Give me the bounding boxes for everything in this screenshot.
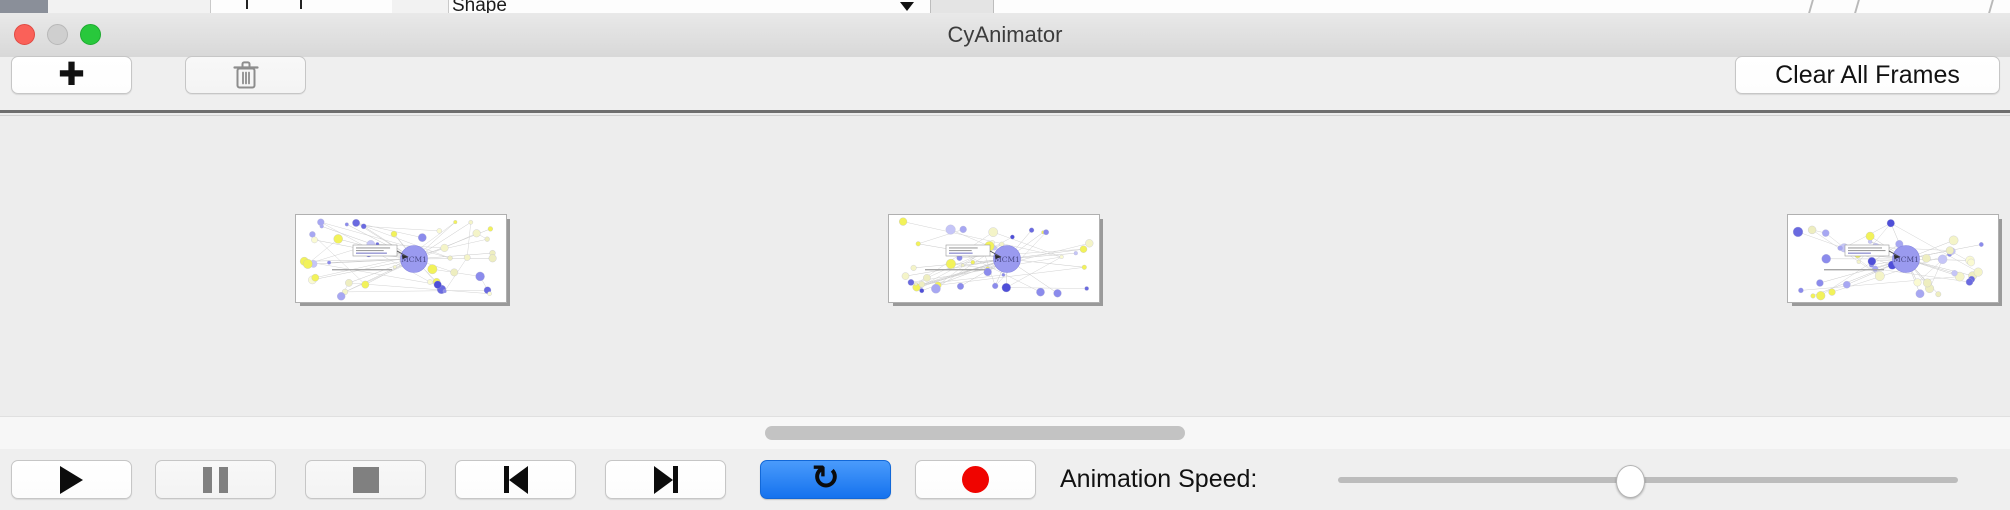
animation-speed-label: Animation Speed: bbox=[1060, 460, 1257, 499]
pause-button[interactable] bbox=[155, 460, 276, 499]
delete-frame-button[interactable] bbox=[185, 56, 306, 94]
bg-tick bbox=[246, 0, 248, 9]
toolbar-divider bbox=[0, 110, 2010, 113]
record-button[interactable] bbox=[915, 460, 1036, 499]
bg-highlight bbox=[930, 0, 994, 13]
clear-all-frames-button[interactable]: Clear All Frames bbox=[1735, 56, 2000, 94]
stop-button[interactable] bbox=[305, 460, 426, 499]
bg-window-partial-label: Shape bbox=[452, 0, 507, 13]
loop-button[interactable]: ↻ bbox=[760, 460, 891, 499]
playback-controls: ↻ Animation Speed: bbox=[0, 449, 2010, 510]
skip-to-start-button[interactable] bbox=[455, 460, 576, 499]
play-icon bbox=[60, 466, 83, 494]
add-frame-button[interactable]: ✚ bbox=[11, 56, 132, 94]
frame-image: MCM1 bbox=[295, 214, 507, 303]
animation-speed-slider-track[interactable] bbox=[1338, 477, 1958, 483]
background-window-strip: Shape bbox=[0, 0, 2010, 13]
frame-image: MCM1 bbox=[888, 214, 1100, 303]
trash-icon bbox=[233, 60, 259, 90]
record-icon bbox=[962, 466, 989, 493]
pause-icon bbox=[203, 467, 228, 493]
skip-forward-icon bbox=[654, 466, 678, 494]
cyanimator-window: Shape CyAnimator ✚ Clear All Frames MC bbox=[0, 0, 2010, 510]
timeline-scrollbar-track[interactable] bbox=[0, 416, 2010, 450]
plus-icon: ✚ bbox=[58, 58, 85, 90]
stop-icon bbox=[353, 467, 379, 493]
clear-all-frames-label: Clear All Frames bbox=[1775, 61, 1960, 90]
timeline-frame-thumbnail[interactable]: MCM1 bbox=[1787, 214, 2002, 306]
bg-segment bbox=[170, 0, 211, 13]
bg-tick bbox=[300, 0, 302, 9]
timeline-frame-thumbnail[interactable]: MCM1 bbox=[295, 214, 510, 306]
loop-icon: ↻ bbox=[811, 461, 840, 495]
timeline-panel[interactable]: MCM1MCM1MCM1 12131415161718 Seconds bbox=[0, 116, 2010, 416]
window-title: CyAnimator bbox=[0, 13, 2010, 57]
animation-speed-slider-thumb[interactable] bbox=[1616, 465, 1645, 498]
timeline-scrollbar-thumb[interactable] bbox=[765, 426, 1185, 440]
frame-image: MCM1 bbox=[1787, 214, 1999, 303]
skip-to-end-button[interactable] bbox=[605, 460, 726, 499]
bg-segment bbox=[48, 0, 171, 13]
bg-angle bbox=[1988, 0, 2010, 13]
bg-segment-dark bbox=[0, 0, 49, 13]
timeline-frame-thumbnail[interactable]: MCM1 bbox=[888, 214, 1103, 306]
bg-angle bbox=[1854, 0, 1878, 13]
skip-back-icon bbox=[504, 466, 528, 494]
bg-angle bbox=[1808, 0, 1832, 13]
title-bar[interactable]: CyAnimator bbox=[0, 13, 2010, 58]
play-button[interactable] bbox=[11, 460, 132, 499]
bg-segment bbox=[392, 0, 449, 13]
bg-caret-icon bbox=[900, 2, 914, 11]
